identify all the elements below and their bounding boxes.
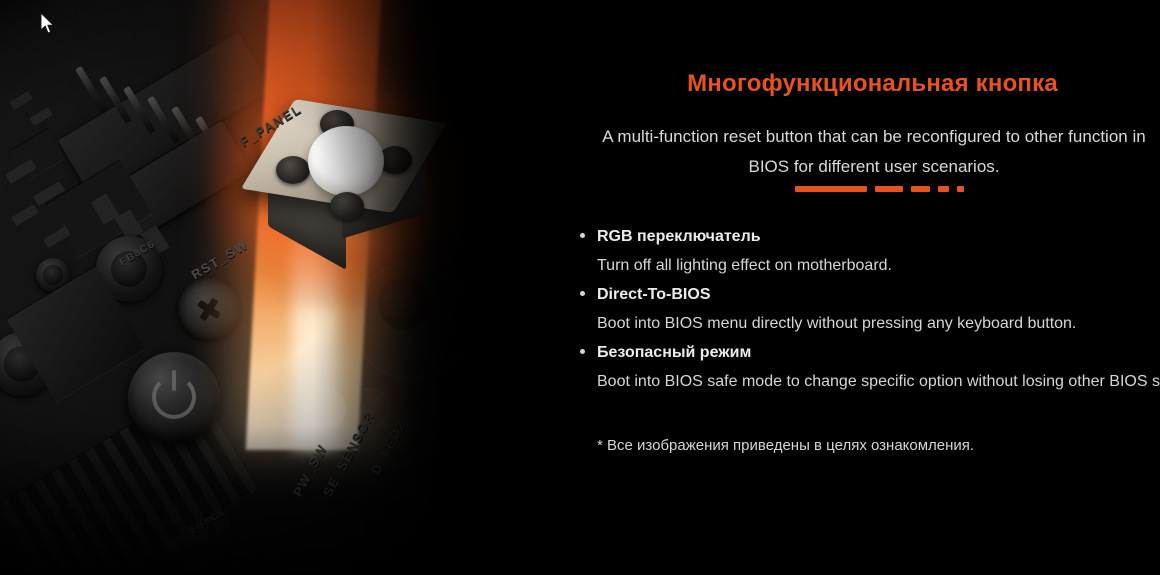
bullet-description: Boot into BIOS safe mode to change speci…	[597, 367, 1160, 396]
bullet-title: RGB переключатель	[597, 222, 1160, 251]
bullet-dot-icon	[580, 233, 585, 238]
list-item: RGB переключатель Turn off all lighting …	[559, 222, 1160, 280]
list-item: Безопасный режим Boot into BIOS safe mod…	[559, 338, 1160, 396]
product-feature-section: RST_SW F_PANEL PW_SW SE_SENSOR D_LED2 FB…	[0, 0, 1160, 575]
bullet-description: Turn off all lighting effect on motherbo…	[597, 251, 1160, 280]
list-item: Direct-To-BIOS Boot into BIOS menu direc…	[559, 280, 1160, 338]
bullet-dot-icon	[580, 349, 585, 354]
feature-text-panel: Многофункциональная кнопка A multi-funct…	[540, 0, 1160, 575]
footnote: * Все изображения приведены в целях озна…	[597, 434, 974, 458]
hero-switch-leg	[276, 156, 310, 184]
divider-segment	[795, 186, 867, 192]
decorative-divider	[795, 186, 964, 192]
page-title: Многофункциональная кнопка	[540, 70, 1160, 98]
hero-switch-plunger	[308, 126, 384, 196]
power-button[interactable]	[128, 352, 220, 444]
bullet-dot-icon	[580, 291, 585, 296]
power-icon	[152, 375, 196, 419]
mouse-pointer-icon	[40, 12, 56, 36]
feature-bullet-list: RGB переключатель Turn off all lighting …	[559, 222, 1160, 396]
bullet-description: Boot into BIOS menu directly without pre…	[597, 309, 1160, 338]
divider-segment	[911, 186, 930, 192]
motherboard-photo: RST_SW F_PANEL PW_SW SE_SENSOR D_LED2 FB…	[0, 0, 540, 575]
reset-button-hero-render	[268, 104, 428, 242]
divider-segment	[875, 186, 903, 192]
bullet-title: Безопасный режим	[597, 338, 1160, 367]
page-subtitle: A multi-function reset button that can b…	[584, 122, 1160, 182]
divider-segment	[938, 186, 949, 192]
hero-switch-leg	[330, 192, 364, 220]
bullet-title: Direct-To-BIOS	[597, 280, 1160, 309]
divider-segment	[957, 186, 964, 192]
